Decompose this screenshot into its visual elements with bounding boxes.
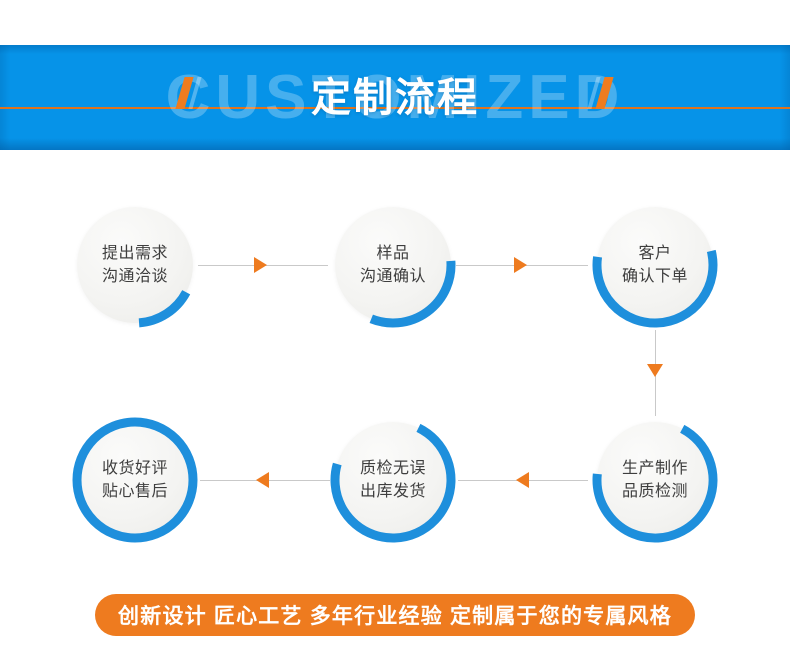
flow-step-4[interactable]: 生产制作 品质检测 bbox=[589, 414, 721, 546]
step-label-line2: 贴心售后 bbox=[102, 480, 168, 503]
step-label-line2: 品质检测 bbox=[622, 480, 688, 503]
flow-step-5[interactable]: 质检无误 出库发货 bbox=[327, 414, 459, 546]
arrow-left-icon bbox=[516, 472, 529, 488]
banner-top-shade bbox=[0, 45, 790, 54]
flow-step-3[interactable]: 客户 确认下单 bbox=[589, 199, 721, 331]
page-title: 定制流程 bbox=[0, 78, 790, 118]
arrow-right-icon bbox=[514, 257, 527, 273]
flow-step-6[interactable]: 收货好评 贴心售后 bbox=[69, 414, 201, 546]
step-label: 质检无误 出库发货 bbox=[327, 414, 459, 546]
customization-process-infographic: CUSTOMIZED 定制流程 提出需求 沟通洽谈 bbox=[0, 0, 790, 666]
step-label: 收货好评 贴心售后 bbox=[69, 414, 201, 546]
flow-step-2[interactable]: 样品 沟通确认 bbox=[327, 199, 459, 331]
step-label-line1: 质检无误 bbox=[360, 457, 426, 480]
step-label-line2: 沟通洽谈 bbox=[102, 265, 168, 288]
step-label-line1: 样品 bbox=[376, 242, 409, 265]
banner-bottom-shade bbox=[0, 138, 790, 150]
step-label-line1: 客户 bbox=[638, 242, 671, 265]
step-label: 生产制作 品质检测 bbox=[589, 414, 721, 546]
flow-step-1[interactable]: 提出需求 沟通洽谈 bbox=[69, 199, 201, 331]
step-label: 样品 沟通确认 bbox=[327, 199, 459, 331]
step-label: 客户 确认下单 bbox=[589, 199, 721, 331]
header-banner: CUSTOMIZED 定制流程 bbox=[0, 45, 790, 150]
step-label-line2: 出库发货 bbox=[360, 480, 426, 503]
step-label-line2: 沟通确认 bbox=[360, 265, 426, 288]
step-label-line1: 生产制作 bbox=[622, 457, 688, 480]
step-label-line1: 收货好评 bbox=[102, 457, 168, 480]
tagline-text: 创新设计 匠心工艺 多年行业经验 定制属于您的专属风格 bbox=[118, 600, 672, 630]
arrow-down-icon bbox=[647, 364, 663, 377]
arrow-right-icon bbox=[254, 257, 267, 273]
tagline-banner: 创新设计 匠心工艺 多年行业经验 定制属于您的专属风格 bbox=[95, 594, 695, 636]
step-label-line1: 提出需求 bbox=[102, 242, 168, 265]
arrow-left-icon bbox=[256, 472, 269, 488]
step-label: 提出需求 沟通洽谈 bbox=[69, 199, 201, 331]
step-label-line2: 确认下单 bbox=[622, 265, 688, 288]
